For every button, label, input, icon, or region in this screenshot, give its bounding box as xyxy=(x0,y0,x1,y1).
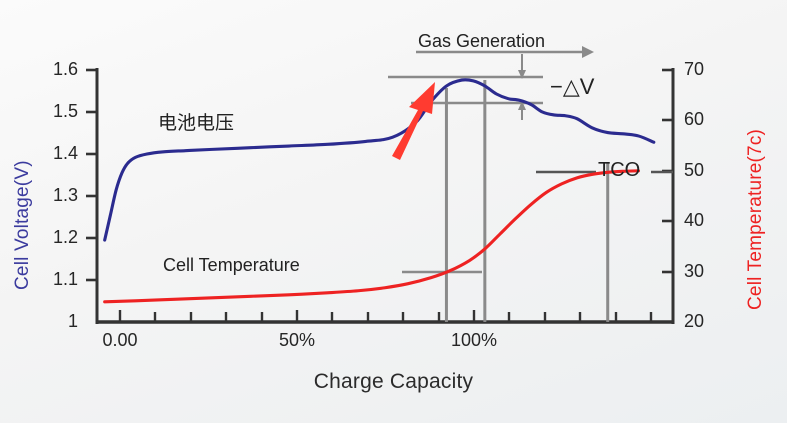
gas-generation-label: Gas Generation xyxy=(418,31,545,52)
delta-v-span-arrows xyxy=(518,54,526,120)
right-tick-label-50: 50 xyxy=(684,160,724,181)
left-tick-label-1_4: 1.4 xyxy=(34,143,78,164)
right-tick-label-20: 20 xyxy=(684,311,724,332)
peak-pointer-arrow xyxy=(392,82,435,160)
x-tick-label-50: 50% xyxy=(257,330,337,351)
x-axis-title: Charge Capacity xyxy=(0,370,787,394)
tco-label: TCO xyxy=(598,159,640,182)
voltage-series-label: 电池电压 xyxy=(158,108,234,135)
temperature-series-label: Cell Temperature xyxy=(163,255,300,276)
x-tick-label-0: 0.00 xyxy=(80,330,160,351)
temperature-curve xyxy=(105,171,639,302)
plot-area xyxy=(97,62,673,322)
left-tick-label-1_6: 1.6 xyxy=(34,59,78,80)
left-tick-label-1_1: 1.1 xyxy=(34,269,78,290)
y-axis-left-title: Cell Voltage(V) xyxy=(12,160,34,290)
right-tick-label-40: 40 xyxy=(684,210,724,231)
right-tick-label-60: 60 xyxy=(684,109,724,130)
left-axis-ticks xyxy=(86,70,97,280)
voltage-curve xyxy=(105,80,654,240)
left-tick-label-1: 1 xyxy=(34,311,78,332)
x-tick-label-100: 100% xyxy=(434,330,514,351)
right-tick-label-70: 70 xyxy=(684,59,724,80)
bottom-axis-ticks xyxy=(120,310,651,322)
y-axis-right-title: Cell Temperature(7c) xyxy=(745,129,767,310)
right-tick-label-30: 30 xyxy=(684,261,724,282)
left-tick-label-1_5: 1.5 xyxy=(34,101,78,122)
left-tick-label-1_3: 1.3 xyxy=(34,185,78,206)
left-tick-label-1_2: 1.2 xyxy=(34,227,78,248)
delta-v-label: −△V xyxy=(550,74,594,100)
chart-container: 1.6 1.5 1.4 1.3 1.2 1.1 1 70 60 50 40 30… xyxy=(0,0,787,423)
vertical-marker-lines xyxy=(446,80,607,322)
chart-plot xyxy=(0,0,787,423)
